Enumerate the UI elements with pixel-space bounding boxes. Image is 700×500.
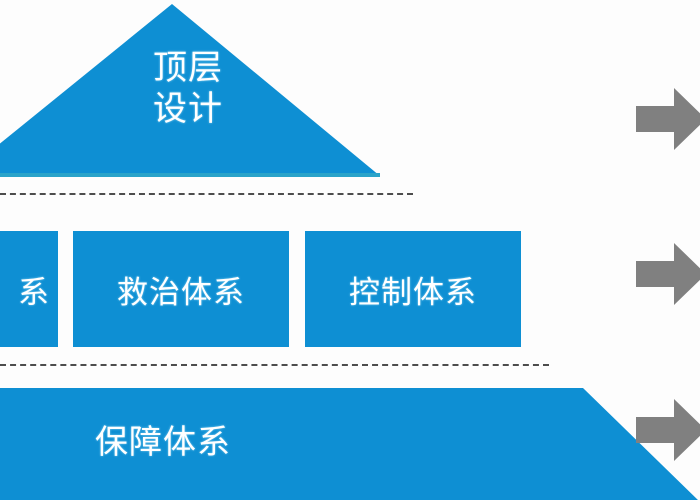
tier-top-triangle[interactable]	[0, 4, 380, 178]
bottom-band-shape	[0, 388, 700, 500]
arrow-right-icon-bottom[interactable]	[636, 399, 700, 461]
middle-box-2-label: 控制体系	[349, 267, 477, 312]
middle-box-0[interactable]: 系	[0, 231, 58, 347]
diagram-canvas: 顶层 设计 系 救治体系 控制体系 保障体系	[0, 0, 700, 500]
arrow-right-glyph	[636, 88, 700, 150]
divider-bottom	[0, 364, 549, 366]
middle-box-1-label: 救治体系	[117, 267, 245, 312]
middle-box-0-label: 系	[18, 267, 50, 312]
tier-middle-row: 系 救治体系 控制体系	[0, 231, 700, 347]
tier-bottom-band[interactable]	[0, 386, 700, 500]
triangle-base-edge	[0, 173, 380, 177]
arrow-right-icon-top[interactable]	[636, 88, 700, 150]
middle-box-2[interactable]: 控制体系	[305, 231, 521, 347]
arrow-right-glyph	[636, 399, 700, 461]
triangle-shape	[0, 4, 380, 176]
middle-box-1[interactable]: 救治体系	[73, 231, 289, 347]
arrow-right-icon-middle[interactable]	[636, 243, 700, 305]
arrow-right-glyph	[636, 243, 700, 305]
divider-top	[0, 193, 413, 195]
